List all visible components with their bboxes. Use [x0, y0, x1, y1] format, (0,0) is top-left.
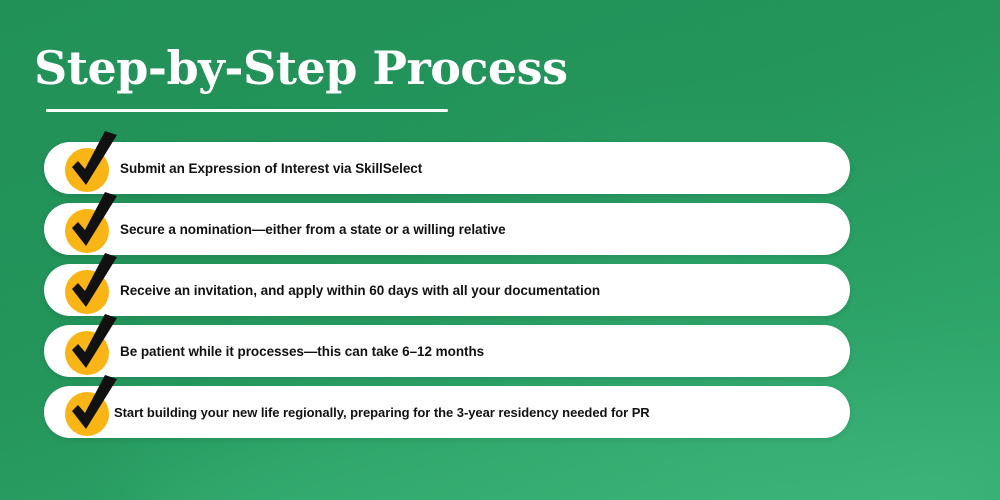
list-item[interactable]: Be patient while it processes—this can t… [44, 325, 850, 377]
title-underline [46, 109, 448, 112]
list-item[interactable]: Receive an invitation, and apply within … [44, 264, 850, 316]
step-label: Start building your new life regionally,… [44, 405, 672, 420]
check-circle-icon [59, 137, 121, 199]
list-item[interactable]: Secure a nomination—either from a state … [44, 203, 850, 255]
list-item[interactable]: Submit an Expression of Interest via Ski… [44, 142, 850, 194]
header: Step-by-Step Process [34, 44, 554, 112]
list-item[interactable]: Start building your new life regionally,… [44, 386, 850, 438]
infographic-canvas: Step-by-Step Process Submit an Expressio… [0, 0, 1000, 500]
check-circle-icon [59, 320, 121, 382]
check-circle-icon [59, 198, 121, 260]
page-title: Step-by-Step Process [34, 44, 554, 92]
check-circle-icon [59, 259, 121, 321]
check-circle-icon [59, 381, 121, 443]
step-label: Receive an invitation, and apply within … [44, 283, 622, 298]
step-list: Submit an Expression of Interest via Ski… [44, 142, 850, 438]
